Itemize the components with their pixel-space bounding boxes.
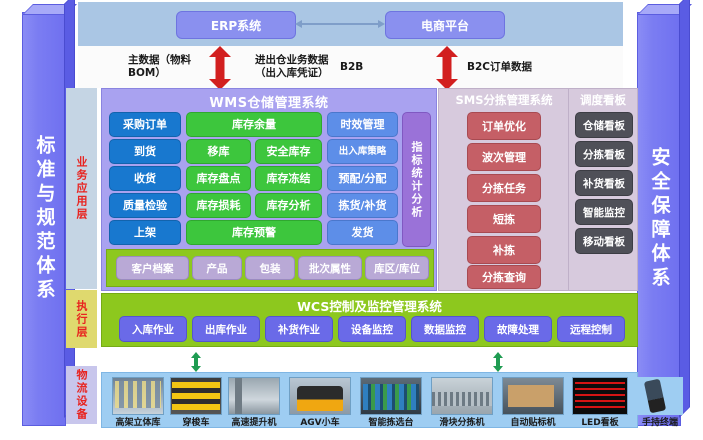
wms-cell-label: 库存盘点 [197,173,241,185]
wms-cell-label: 上架 [134,227,156,239]
wms-cell-stock-loss[interactable]: 库存损耗 [186,193,251,218]
wms-cell-label: 质量检验 [123,200,167,212]
equipment-photo [112,377,164,415]
sms-item-label: 分拣查询 [482,269,526,285]
wms-stats-analysis-label: 指标统计分析 [411,141,422,219]
dashboard-item-label: 分拣看板 [583,147,625,162]
sms-item-wave-management[interactable]: 波次管理 [467,143,541,171]
wms-cell-receiving[interactable]: 收货 [109,166,181,191]
dashboard-item-label: 仓储看板 [583,118,625,133]
wcs-item-label: 数据监控 [424,322,466,337]
wms-cell-stock-balance[interactable]: 库存余量 [186,112,322,137]
equipment-panel: 高架立体库 穿梭车 高速提升机 AGV小车 智能拣选台 滑块分拣机 自动贴标机 [101,372,638,428]
sms-item-sorting-task[interactable]: 分拣任务 [467,174,541,202]
equipment-caption: 滑块分拣机 [425,415,499,428]
sms-item-label: 分拣任务 [482,180,526,196]
ecommerce-platform-label: 电商平台 [421,17,469,34]
wcs-item-outbound[interactable]: 出库作业 [192,316,260,342]
wms-cell-safety-stock[interactable]: 安全库存 [255,139,322,164]
wms-cell-label: 拣货/补货 [338,200,386,212]
erp-system-node[interactable]: ERP系统 [176,11,296,39]
wcs-item-data-monitoring[interactable]: 数据监控 [411,316,479,342]
wcs-item-label: 故障处理 [497,322,539,337]
sms-item-sorting-query[interactable]: 分拣查询 [467,265,541,289]
wms-master-customer-file[interactable]: 客户档案 [116,256,189,280]
sms-item-label: 波次管理 [482,149,526,165]
erp-wms-flow-arrow-icon [205,46,235,90]
wcs-equipment-flow-arrow-right-icon [490,352,506,372]
wms-cell-stock-freeze[interactable]: 库存冻结 [255,166,322,191]
wms-cell-transfer[interactable]: 移库 [186,139,251,164]
layer-label-equipment: 物流设备 [66,366,97,424]
dashboard-item-label: 智能监控 [583,205,625,220]
equipment-caption: AGV小车 [283,415,357,428]
dashboard-title: 调度看板 [569,92,637,108]
left-pillar-face: 标准与规范体系 [23,13,65,425]
wms-master-batch-attr[interactable]: 批次属性 [298,256,362,280]
wcs-title: WCS控制及监控管理系统 [102,296,637,315]
wms-cell-label: 安全库存 [267,146,311,158]
wcs-item-fault-handling[interactable]: 故障处理 [484,316,552,342]
wcs-item-label: 补货作业 [278,322,320,337]
equipment-caption: 智能拣选台 [354,415,428,428]
wms-cell-stocktaking[interactable]: 库存盘点 [186,166,251,191]
equipment-item-auto-labeler[interactable]: 自动贴标机 [502,377,564,427]
equipment-photo [228,377,280,415]
link-arrow-right-icon [378,20,385,28]
equipment-photo [431,377,493,415]
wms-panel: WMS仓储管理系统 采购订单 库存余量 时效管理 到货 移库 安全库存 出入库策… [101,88,437,291]
wms-master-zone-location[interactable]: 库区/库位 [365,256,429,280]
equipment-caption: 高架立体库 [106,415,170,428]
erp-ecommerce-link [300,23,379,25]
wcs-item-label: 出库作业 [205,322,247,337]
dashboard-item-sorting[interactable]: 分拣看板 [575,141,633,167]
wms-cell-label: 移库 [208,146,230,158]
sms-item-replenish-pick[interactable]: 补拣 [467,236,541,264]
wcs-item-remote-control[interactable]: 远程控制 [557,316,625,342]
wms-cell-purchase-order[interactable]: 采购订单 [109,112,181,137]
dashboard-item-label: 补货看板 [583,176,625,191]
right-pillar-side-icon [679,0,690,418]
b2c-order-label: B2C订单数据 [467,61,557,74]
sms-item-label: 补拣 [493,242,515,258]
equipment-photo [502,377,564,415]
wms-cell-label: 发货 [352,227,374,239]
wms-cell-label: 采购订单 [123,119,167,131]
inout-warehouse-label: 进出仓业务数据（出入库凭证） [255,54,335,80]
wms-master-label: 批次属性 [309,261,351,276]
wms-cell-label: 库存冻结 [267,173,311,185]
wms-cell-stock-alert[interactable]: 库存预警 [186,220,322,245]
wcs-item-replenishment[interactable]: 补货作业 [265,316,333,342]
wms-cell-quality-inspection[interactable]: 质量检验 [109,193,181,218]
dashboard-item-mobile[interactable]: 移动看板 [575,228,633,254]
wms-master-label: 产品 [207,261,228,276]
left-pillar-label: 标准与规范体系 [35,135,54,303]
wms-title: WMS仓储管理系统 [102,92,436,111]
equipment-item-led-board[interactable]: LED看板 [572,377,628,427]
wms-master-packaging[interactable]: 包装 [245,256,295,280]
link-arrow-left-icon [295,20,302,28]
b2b-label: B2B [340,61,380,74]
wms-cell-timeliness-mgmt[interactable]: 时效管理 [327,112,398,137]
equipment-item-smart-picking-station[interactable]: 智能拣选台 [360,377,422,427]
equipment-caption: 高速提升机 [222,415,286,428]
wms-cell-arrival[interactable]: 到货 [109,139,181,164]
wcs-item-inbound[interactable]: 入库作业 [119,316,187,342]
equipment-item-shuttle[interactable]: 穿梭车 [170,377,222,427]
layer-label-execution-text: 执行层 [76,300,87,339]
right-pillar-security: 安全保障体系 [637,12,681,426]
wcs-item-label: 远程控制 [570,322,612,337]
wms-cell-shipping[interactable]: 发货 [327,220,398,245]
layer-label-execution: 执行层 [66,290,97,348]
right-pillar-label: 安全保障体系 [650,147,669,291]
ecommerce-sms-flow-arrow-icon [432,46,462,90]
wcs-item-label: 设备监控 [351,322,393,337]
wms-cell-label: 库存损耗 [197,200,241,212]
architecture-diagram: ERP系统 电商平台 主数据（物料BOM） 进出仓业务数据（出入库凭证） B2B… [0,0,703,440]
erp-system-label: ERP系统 [211,17,261,34]
equipment-photo [572,377,628,415]
equipment-photo [289,377,351,415]
right-pillar-face: 安全保障体系 [638,13,680,425]
equipment-caption: 手持终端 [631,415,689,428]
dashboard-item-label: 移动看板 [583,234,625,249]
equipment-photo [360,377,422,415]
wcs-item-label: 入库作业 [132,322,174,337]
left-pillar-standards: 标准与规范体系 [22,12,66,426]
dashboard-item-smart-monitoring[interactable]: 智能监控 [575,199,633,225]
wcs-equipment-flow-arrow-left-icon [188,352,204,372]
wms-cell-label: 出入库策略 [339,147,387,157]
wms-master-label: 客户档案 [132,261,174,276]
wms-master-product[interactable]: 产品 [192,256,242,280]
layer-label-business-text: 业务应用层 [76,156,87,221]
equipment-item-asrs[interactable]: 高架立体库 [112,377,164,427]
equipment-caption: 自动贴标机 [496,415,570,428]
wms-cell-label: 库存分析 [267,200,311,212]
layer-label-business: 业务应用层 [66,88,97,289]
wms-cell-putaway[interactable]: 上架 [109,220,181,245]
equipment-photo [637,377,683,415]
sms-panel: SMS分拣管理系统 订单优化 波次管理 分拣任务 短拣 补拣 分拣查询 [438,88,570,291]
equipment-caption: LED看板 [566,415,634,428]
sms-item-label: 订单优化 [482,118,526,134]
wms-cell-label: 到货 [134,146,156,158]
wms-cell-label: 时效管理 [341,119,385,131]
equipment-item-agv[interactable]: AGV小车 [289,377,351,427]
wms-cell-label: 收货 [134,173,156,185]
wms-cell-picking-replenish[interactable]: 拣货/补货 [327,193,398,218]
master-data-label: 主数据（物料BOM） [128,54,196,80]
wms-cell-label: 预配/分配 [338,173,386,185]
equipment-item-slider-sorter[interactable]: 滑块分拣机 [431,377,493,427]
equipment-item-handheld[interactable]: 手持终端 [637,377,683,427]
dashboard-item-replenishment[interactable]: 补货看板 [575,170,633,196]
wms-cell-stock-analysis[interactable]: 库存分析 [255,193,322,218]
wcs-item-device-monitoring[interactable]: 设备监控 [338,316,406,342]
sms-title: SMS分拣管理系统 [439,92,569,108]
sms-item-order-optimization[interactable]: 订单优化 [467,112,541,140]
equipment-caption: 穿梭车 [164,415,228,428]
ecommerce-platform-node[interactable]: 电商平台 [385,11,505,39]
wcs-panel: WCS控制及监控管理系统 入库作业 出库作业 补货作业 设备监控 数据监控 故障… [101,293,638,347]
wms-stats-analysis[interactable]: 指标统计分析 [402,112,431,247]
layer-label-equipment-text: 物流设备 [76,369,87,421]
wms-master-label: 库区/库位 [374,261,420,276]
sms-item-label: 短拣 [493,211,515,227]
dashboard-panel: 调度看板 仓储看板 分拣看板 补货看板 智能监控 移动看板 [568,88,638,291]
wms-cell-preallocation[interactable]: 预配/分配 [327,166,398,191]
equipment-photo [170,377,222,415]
wms-cell-inout-strategy[interactable]: 出入库策略 [327,139,398,164]
dashboard-item-warehouse[interactable]: 仓储看板 [575,112,633,138]
wms-cell-label: 库存预警 [232,227,276,239]
sms-item-short-pick[interactable]: 短拣 [467,205,541,233]
equipment-item-hoist[interactable]: 高速提升机 [228,377,280,427]
wms-master-label: 包装 [260,261,281,276]
wms-cell-label: 库存余量 [232,119,276,131]
